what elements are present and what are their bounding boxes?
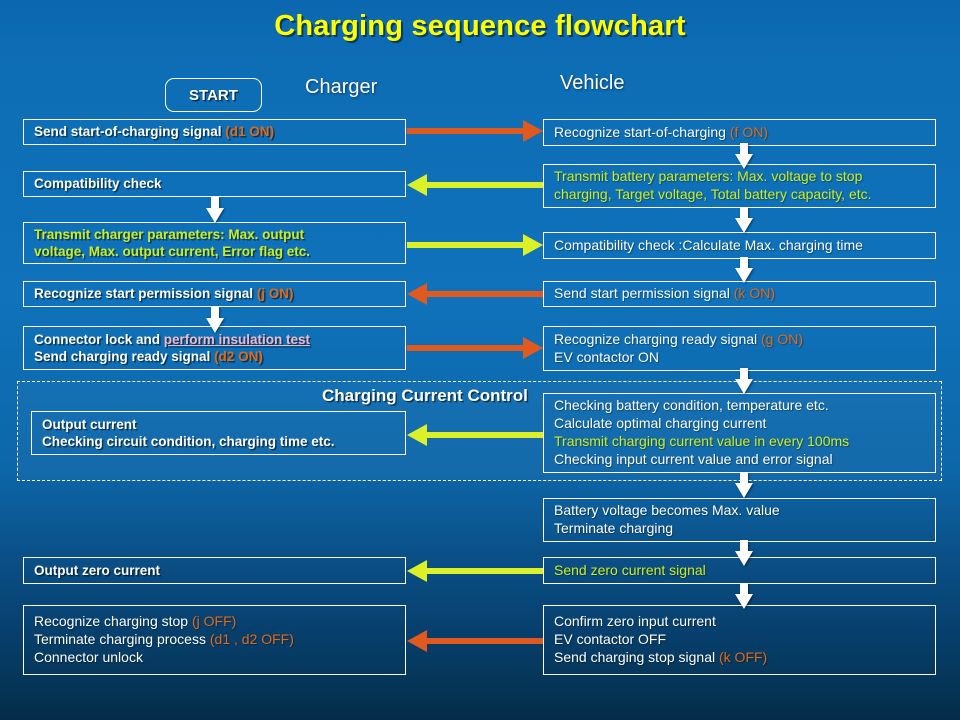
- arrow-charging-ready: [407, 337, 543, 359]
- text-run: EV contactor ON: [554, 349, 659, 365]
- arrow-charger-parameters: [407, 234, 543, 256]
- text-run: Transmit charging current value in every…: [554, 433, 849, 449]
- text-run: perform insulation test: [164, 332, 310, 347]
- box-line: Recognize start-of-charging (f ON): [554, 124, 925, 142]
- box-line: Compatibility check: [34, 175, 395, 192]
- text-run: Transmit battery parameters: Max. voltag…: [554, 168, 862, 184]
- box-line: charging, Target voltage, Total battery …: [554, 186, 925, 204]
- text-run: (f ON): [730, 124, 768, 140]
- vehicle-box-send-start-permission[interactable]: Send start permission signal (k ON): [543, 281, 936, 307]
- column-header-vehicle: Vehicle: [560, 72, 625, 95]
- box-line: Recognize charging ready signal (g ON): [554, 331, 925, 349]
- text-run: Output zero current: [34, 563, 160, 578]
- charger-box-compatibility-check[interactable]: Compatibility check: [23, 171, 406, 197]
- box-line: Battery voltage becomes Max. value: [554, 502, 925, 520]
- text-run: Send start-of-charging signal: [34, 124, 225, 139]
- text-run: voltage, Max. output current, Error flag…: [34, 244, 310, 259]
- text-run: charging, Target voltage, Total battery …: [554, 186, 872, 202]
- box-line: Checking battery condition, temperature …: [554, 397, 925, 415]
- arrow-start-permission: [407, 283, 543, 305]
- box-line: Terminate charging: [554, 520, 925, 538]
- text-run: Recognize start permission signal: [34, 286, 257, 301]
- column-header-charger: Charger: [305, 76, 377, 99]
- vehicle-box-checking-battery-condition[interactable]: Checking battery condition, temperature …: [543, 393, 936, 473]
- box-line: EV contactor OFF: [554, 631, 925, 649]
- text-run: Terminate charging process: [34, 631, 210, 647]
- box-line: voltage, Max. output current, Error flag…: [34, 243, 395, 260]
- charger-box-recognize-charging-stop[interactable]: Recognize charging stop (j OFF)Terminate…: [23, 605, 406, 675]
- text-run: (g ON): [761, 331, 803, 347]
- box-line: Transmit battery parameters: Max. voltag…: [554, 168, 925, 186]
- text-run: (k ON): [734, 285, 775, 301]
- down-arrow-vehicle-3: [735, 257, 753, 283]
- text-run: Confirm zero input current: [554, 613, 716, 629]
- down-arrow-vehicle-2: [735, 207, 753, 233]
- box-line: Send start permission signal (k ON): [554, 285, 925, 303]
- text-run: Transmit charger parameters: Max. output: [34, 227, 304, 242]
- charger-box-transmit-charger-parameters[interactable]: Transmit charger parameters: Max. output…: [23, 222, 406, 264]
- vehicle-box-recognize-start-of-charging[interactable]: Recognize start-of-charging (f ON): [543, 119, 936, 146]
- text-run: Send charging stop signal: [554, 649, 719, 665]
- box-line: Checking input current value and error s…: [554, 451, 925, 469]
- arrow-charging-current: [407, 424, 543, 446]
- box-line: Send charging stop signal (k OFF): [554, 649, 925, 667]
- text-run: (j ON): [257, 286, 294, 301]
- box-line: Checking circuit condition, charging tim…: [42, 433, 395, 450]
- box-line: Terminate charging process (d1 , d2 OFF): [34, 631, 395, 649]
- text-run: Checking input current value and error s…: [554, 451, 833, 467]
- charger-box-send-start-of-charging[interactable]: Send start-of-charging signal (d1 ON): [23, 119, 406, 145]
- text-run: (d1 , d2 OFF): [210, 631, 294, 647]
- down-arrow-vehicle-6: [735, 540, 753, 566]
- text-run: Output current: [42, 417, 137, 432]
- text-run: (d1 ON): [225, 124, 274, 139]
- start-node[interactable]: START: [165, 78, 262, 112]
- text-run: Send charging ready signal: [34, 349, 214, 364]
- text-run: Checking circuit condition, charging tim…: [42, 434, 335, 449]
- box-line: Connector unlock: [34, 649, 395, 667]
- vehicle-box-confirm-zero-input-current[interactable]: Confirm zero input currentEV contactor O…: [543, 605, 936, 675]
- charger-box-output-zero-current[interactable]: Output zero current: [23, 557, 406, 584]
- box-line: Calculate optimal charging current: [554, 415, 925, 433]
- charging-current-control-label: Charging Current Control: [322, 386, 528, 406]
- text-run: Compatibility check: [34, 176, 162, 191]
- text-run: Recognize charging ready signal: [554, 331, 761, 347]
- arrow-zero-current: [407, 560, 543, 582]
- box-line: Send charging ready signal (d2 ON): [34, 348, 395, 365]
- vehicle-box-transmit-battery-parameters[interactable]: Transmit battery parameters: Max. voltag…: [543, 164, 936, 208]
- vehicle-box-recognize-charging-ready[interactable]: Recognize charging ready signal (g ON)EV…: [543, 326, 936, 371]
- arrow-start-of-charging: [407, 120, 543, 142]
- arrow-battery-parameters: [407, 174, 543, 196]
- text-run: EV contactor OFF: [554, 631, 666, 647]
- text-run: Send start permission signal: [554, 285, 734, 301]
- box-line: Send start-of-charging signal (d1 ON): [34, 123, 395, 140]
- text-run: Calculate optimal charging current: [554, 415, 766, 431]
- charger-box-output-current[interactable]: Output currentChecking circuit condition…: [31, 411, 406, 455]
- text-run: Battery voltage becomes Max. value: [554, 502, 780, 518]
- box-line: Recognize start permission signal (j ON): [34, 285, 395, 302]
- text-run: Recognize charging stop: [34, 613, 192, 629]
- box-line: Transmit charging current value in every…: [554, 433, 925, 451]
- box-line: Connector lock and perform insulation te…: [34, 331, 395, 348]
- down-arrow-vehicle-1: [735, 143, 753, 169]
- arrow-charging-stop: [407, 630, 543, 652]
- box-line: Transmit charger parameters: Max. output: [34, 226, 395, 243]
- down-arrow-charger-1: [206, 197, 224, 223]
- flowchart-canvas: Charging sequence flowchart Charger Vehi…: [0, 0, 960, 720]
- text-run: Recognize start-of-charging: [554, 124, 730, 140]
- box-line: EV contactor ON: [554, 349, 925, 367]
- vehicle-box-compatibility-check-calc-time[interactable]: Compatibility check :Calculate Max. char…: [543, 232, 936, 259]
- down-arrow-vehicle-5: [735, 472, 753, 498]
- charger-box-recognize-start-permission[interactable]: Recognize start permission signal (j ON): [23, 281, 406, 307]
- vehicle-box-battery-voltage-max[interactable]: Battery voltage becomes Max. valueTermin…: [543, 498, 936, 542]
- text-run: (k OFF): [719, 649, 767, 665]
- text-run: Connector lock and: [34, 332, 164, 347]
- text-run: Send zero current signal: [554, 562, 706, 578]
- box-line: Recognize charging stop (j OFF): [34, 613, 395, 631]
- down-arrow-charger-2: [206, 307, 224, 333]
- text-run: Checking battery condition, temperature …: [554, 397, 829, 413]
- box-line: Compatibility check :Calculate Max. char…: [554, 237, 925, 255]
- box-line: Confirm zero input current: [554, 613, 925, 631]
- page-title: Charging sequence flowchart: [0, 10, 960, 43]
- down-arrow-vehicle-7: [735, 583, 753, 609]
- text-run: (d2 ON): [214, 349, 263, 364]
- text-run: Compatibility check :Calculate Max. char…: [554, 237, 863, 253]
- box-line: Output zero current: [34, 562, 395, 579]
- text-run: (j OFF): [192, 613, 236, 629]
- box-line: Output current: [42, 416, 395, 433]
- text-run: Terminate charging: [554, 520, 673, 536]
- text-run: Connector unlock: [34, 649, 143, 665]
- down-arrow-vehicle-4: [735, 368, 753, 394]
